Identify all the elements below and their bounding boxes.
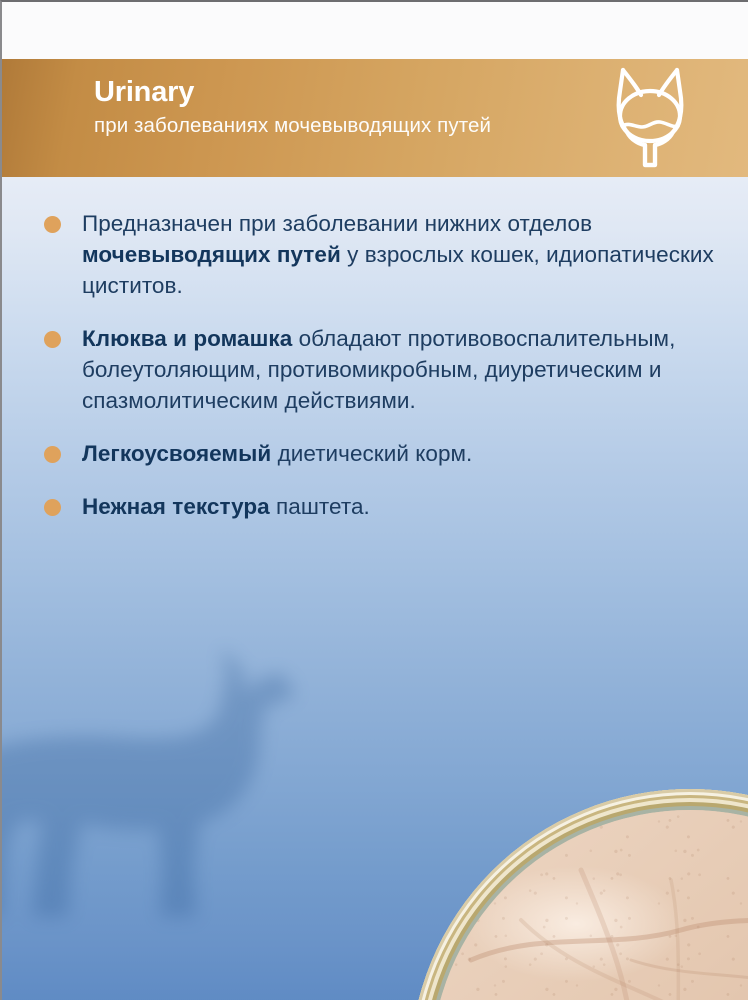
food-can [410,789,748,1000]
list-item: Клюква и ромашка обладают противовоспали… [2,323,748,416]
header-text-group: Urinary при заболеваниях мочевыводящих п… [94,75,614,139]
promo-card: Urinary при заболеваниях мочевыводящих п… [0,0,748,1000]
top-white-strip [2,2,748,59]
bullet-dot-icon [44,331,61,348]
cat-silhouette-icon [2,617,384,917]
bullet-dot-icon [44,216,61,233]
bullet-dot-icon [44,446,61,463]
list-item-text: Нежная текстура паштета. [82,491,724,522]
bladder-icon [595,64,705,172]
list-item: Нежная текстура паштета. [2,491,748,522]
list-item-text: Предназначен при заболевании нижних отде… [82,208,724,301]
pate-texture [431,810,748,1000]
header-band: Urinary при заболеваниях мочевыводящих п… [2,59,748,177]
list-item: Легкоусвояемый диетический корм. [2,438,748,469]
content-area: Предназначен при заболевании нижних отде… [2,177,748,1000]
page-title: Urinary [94,75,614,109]
bullet-dot-icon [44,499,61,516]
page-subtitle: при заболеваниях мочевыводящих путей [94,113,614,139]
benefits-list: Предназначен при заболевании нижних отде… [2,208,748,544]
list-item-text: Клюква и ромашка обладают противовоспали… [82,323,724,416]
pate-surface [431,810,748,1000]
list-item: Предназначен при заболевании нижних отде… [2,208,748,301]
list-item-text: Легкоусвояемый диетический корм. [82,438,724,469]
